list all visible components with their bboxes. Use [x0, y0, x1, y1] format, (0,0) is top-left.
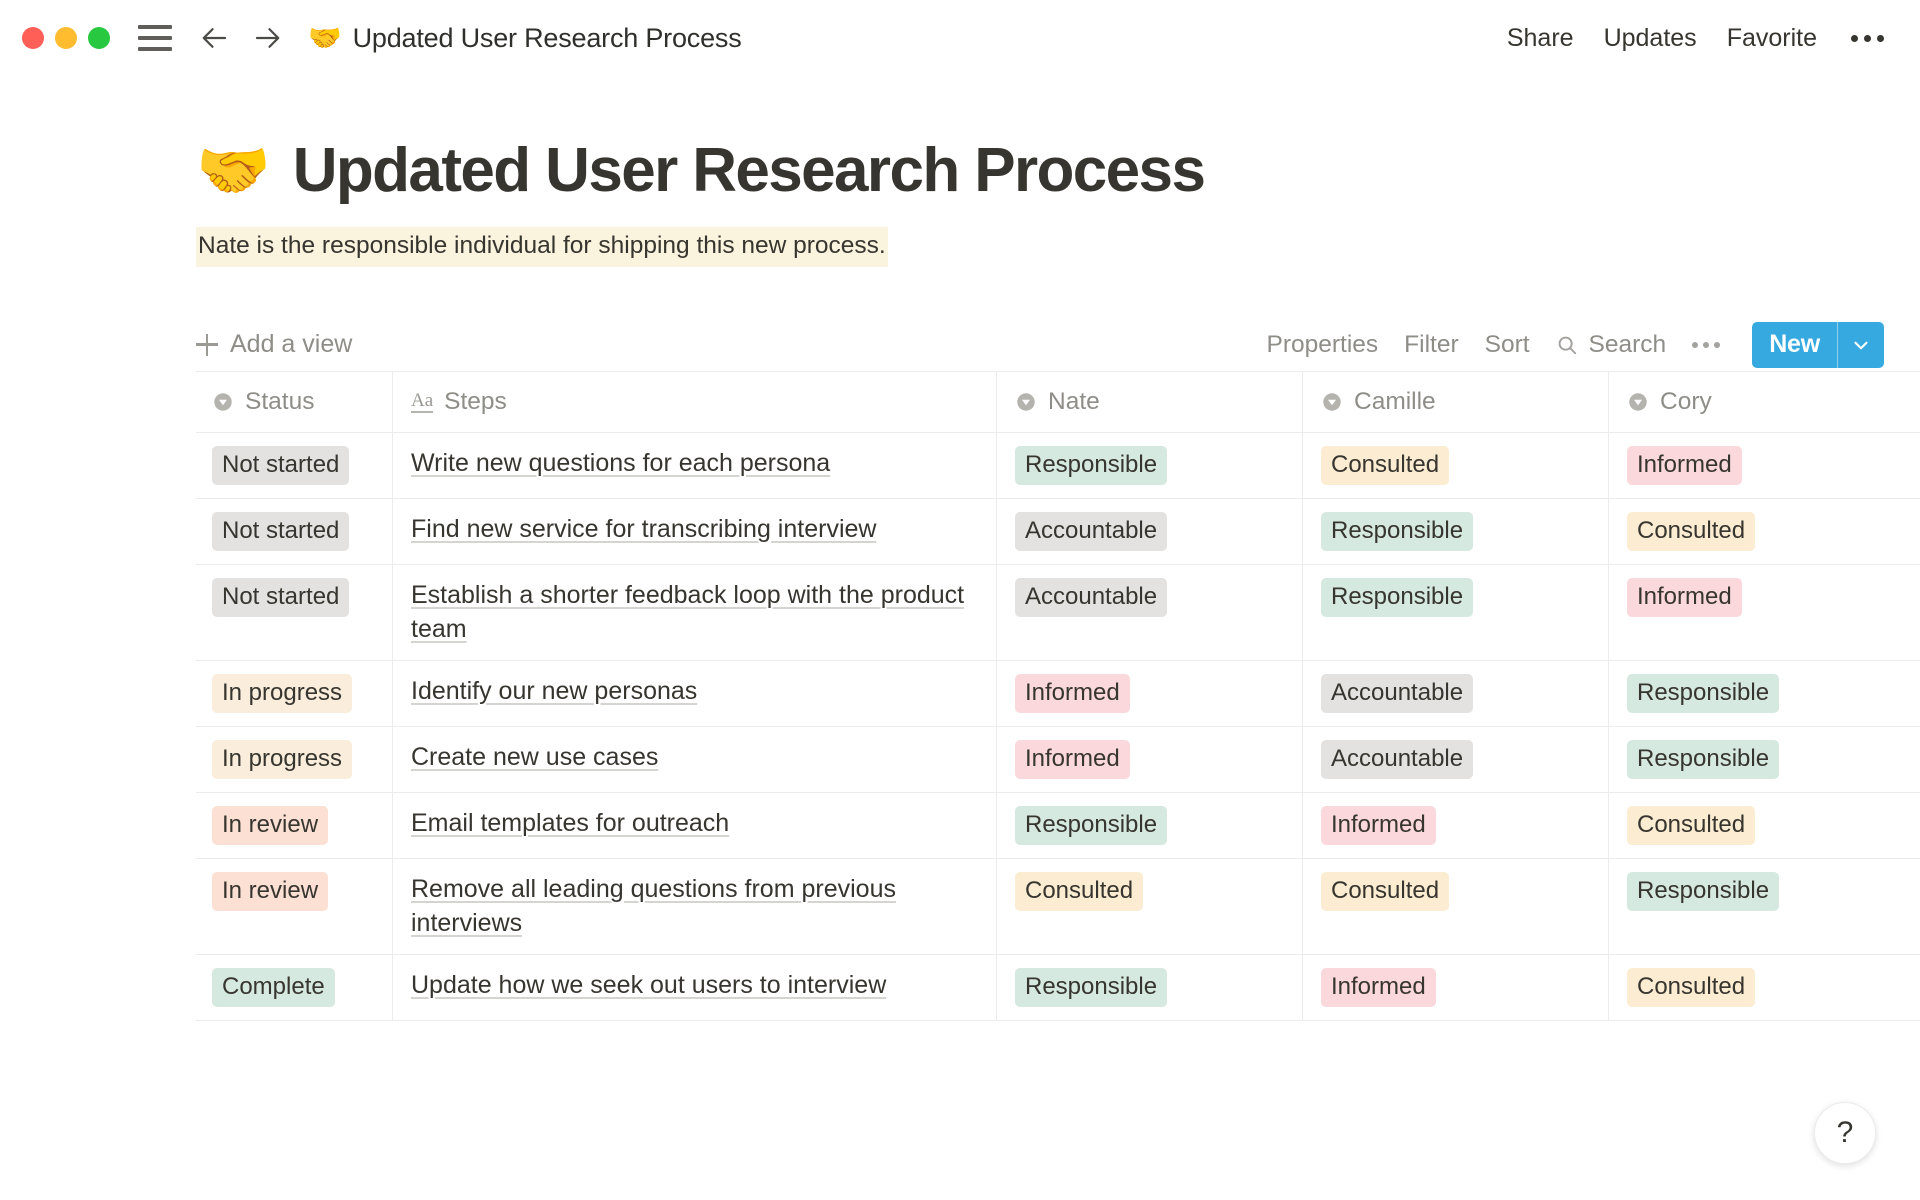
- arrow-left-icon[interactable]: [200, 23, 230, 53]
- search-button[interactable]: Search: [1556, 331, 1667, 359]
- cell-status[interactable]: Not started: [196, 499, 392, 564]
- table-row[interactable]: Not startedFind new service for transcri…: [196, 499, 1920, 565]
- column-header-label: Nate: [1048, 388, 1100, 416]
- breadcrumb[interactable]: Updated User Research Process: [353, 23, 742, 54]
- cell-camille[interactable]: Accountable: [1302, 727, 1608, 792]
- page-title[interactable]: Updated User Research Process: [293, 138, 1205, 205]
- cell-camille[interactable]: Accountable: [1302, 661, 1608, 726]
- cell-status[interactable]: Not started: [196, 565, 392, 660]
- filter-button[interactable]: Filter: [1404, 331, 1458, 359]
- page-content: 🤝 Updated User Research Process Nate is …: [0, 76, 1920, 1021]
- column-header-label: Status: [245, 388, 314, 416]
- nate-pill: Informed: [1015, 740, 1130, 779]
- cell-nate[interactable]: Responsible: [996, 955, 1302, 1020]
- column-header-cory[interactable]: Cory: [1608, 372, 1914, 432]
- cell-camille[interactable]: Responsible: [1302, 499, 1608, 564]
- navigation-arrows: [200, 23, 282, 53]
- cory-pill: Responsible: [1627, 674, 1779, 713]
- cell-cory[interactable]: Informed: [1608, 433, 1914, 498]
- cell-cory[interactable]: Informed: [1608, 565, 1914, 660]
- status-pill: In progress: [212, 740, 352, 779]
- column-header-steps[interactable]: Aa Steps: [392, 372, 996, 432]
- cell-steps[interactable]: Establish a shorter feedback loop with t…: [392, 565, 996, 660]
- select-property-icon: [1015, 391, 1037, 413]
- camille-pill: Informed: [1321, 968, 1436, 1007]
- step-title-link[interactable]: Email templates for outreach: [411, 806, 729, 840]
- cory-pill: Responsible: [1627, 740, 1779, 779]
- step-title-link[interactable]: Identify our new personas: [411, 674, 697, 708]
- status-pill: Complete: [212, 968, 335, 1007]
- step-title-link[interactable]: Write new questions for each persona: [411, 446, 830, 480]
- table-row[interactable]: CompleteUpdate how we seek out users to …: [196, 955, 1920, 1021]
- cell-camille[interactable]: Informed: [1302, 955, 1608, 1020]
- table-row[interactable]: In reviewRemove all leading questions fr…: [196, 859, 1920, 955]
- camille-pill: Responsible: [1321, 578, 1473, 617]
- camille-pill: Informed: [1321, 806, 1436, 845]
- titlebar-actions: Share Updates Favorite: [1507, 24, 1884, 53]
- cell-steps[interactable]: Update how we seek out users to intervie…: [392, 955, 996, 1020]
- page-title-row: 🤝 Updated User Research Process: [196, 138, 1920, 205]
- cell-steps[interactable]: Find new service for transcribing interv…: [392, 499, 996, 564]
- toolbar-actions: Properties Filter Sort Search New: [1266, 322, 1884, 368]
- breadcrumb-emoji-icon: 🤝: [308, 25, 342, 52]
- cell-cory[interactable]: Consulted: [1608, 955, 1914, 1020]
- camille-pill: Accountable: [1321, 674, 1473, 713]
- database-toolbar: Add a view Properties Filter Sort Search…: [196, 319, 1920, 371]
- cell-cory[interactable]: Responsible: [1608, 727, 1914, 792]
- select-property-icon: [212, 391, 234, 413]
- cory-pill: Consulted: [1627, 512, 1755, 551]
- table-row[interactable]: In progressIdentify our new personasInfo…: [196, 661, 1920, 727]
- step-title-link[interactable]: Find new service for transcribing interv…: [411, 512, 876, 546]
- column-header-label: Steps: [444, 388, 507, 416]
- search-label: Search: [1589, 331, 1667, 359]
- nate-pill: Responsible: [1015, 968, 1167, 1007]
- cell-camille[interactable]: Consulted: [1302, 859, 1608, 954]
- nate-pill: Informed: [1015, 674, 1130, 713]
- table-header-row: Status Aa Steps Nate: [196, 371, 1920, 433]
- cell-status[interactable]: In review: [196, 859, 392, 954]
- select-property-icon: [1321, 391, 1343, 413]
- cell-status[interactable]: Not started: [196, 433, 392, 498]
- cory-pill: Responsible: [1627, 872, 1779, 911]
- step-title-link[interactable]: Remove all leading questions from previo…: [411, 872, 978, 941]
- cory-pill: Consulted: [1627, 806, 1755, 845]
- hamburger-icon[interactable]: [138, 25, 172, 51]
- add-view-label: Add a view: [230, 330, 352, 359]
- column-header-nate[interactable]: Nate: [996, 372, 1302, 432]
- cell-nate[interactable]: Accountable: [996, 565, 1302, 660]
- status-pill: In review: [212, 872, 328, 911]
- column-header-status[interactable]: Status: [196, 372, 392, 432]
- camille-pill: Consulted: [1321, 446, 1449, 485]
- status-pill: In progress: [212, 674, 352, 713]
- new-button-dropdown[interactable]: [1838, 322, 1884, 368]
- column-header-camille[interactable]: Camille: [1302, 372, 1608, 432]
- nate-pill: Responsible: [1015, 446, 1167, 485]
- new-button-label: New: [1752, 322, 1837, 368]
- minimize-window-button[interactable]: [55, 27, 77, 49]
- window-traffic-lights: [22, 27, 110, 49]
- share-button[interactable]: Share: [1507, 24, 1574, 53]
- maximize-window-button[interactable]: [88, 27, 110, 49]
- properties-button[interactable]: Properties: [1266, 331, 1378, 359]
- arrow-right-icon[interactable]: [252, 23, 282, 53]
- table-row[interactable]: Not startedEstablish a shorter feedback …: [196, 565, 1920, 661]
- select-property-icon: [1627, 391, 1649, 413]
- nate-pill: Accountable: [1015, 512, 1167, 551]
- cell-steps[interactable]: Create new use cases: [392, 727, 996, 792]
- new-button[interactable]: New: [1752, 322, 1884, 368]
- sort-button[interactable]: Sort: [1485, 331, 1530, 359]
- cell-cory[interactable]: Consulted: [1608, 793, 1914, 858]
- cell-steps[interactable]: Write new questions for each persona: [392, 433, 996, 498]
- nate-pill: Responsible: [1015, 806, 1167, 845]
- column-header-label: Camille: [1354, 388, 1436, 416]
- page-header: 🤝 Updated User Research Process Nate is …: [196, 76, 1920, 267]
- table-row[interactable]: In reviewEmail templates for outreachRes…: [196, 793, 1920, 859]
- cell-nate[interactable]: Informed: [996, 727, 1302, 792]
- step-title-link[interactable]: Establish a shorter feedback loop with t…: [411, 578, 978, 647]
- cell-cory[interactable]: Responsible: [1608, 859, 1914, 954]
- cory-pill: Informed: [1627, 446, 1742, 485]
- search-icon: [1556, 334, 1578, 356]
- close-window-button[interactable]: [22, 27, 44, 49]
- favorite-button[interactable]: Favorite: [1727, 24, 1817, 53]
- status-pill: Not started: [212, 446, 349, 485]
- add-view-button[interactable]: Add a view: [196, 330, 352, 359]
- step-title-link[interactable]: Update how we seek out users to intervie…: [411, 968, 886, 1002]
- cell-cory[interactable]: Responsible: [1608, 661, 1914, 726]
- ellipsis-icon[interactable]: [1692, 342, 1720, 348]
- status-pill: Not started: [212, 512, 349, 551]
- cell-status[interactable]: In progress: [196, 727, 392, 792]
- status-pill: Not started: [212, 578, 349, 617]
- page-emoji-icon[interactable]: 🤝: [196, 141, 271, 201]
- cell-nate[interactable]: Responsible: [996, 793, 1302, 858]
- help-button[interactable]: ?: [1814, 1102, 1876, 1164]
- nate-pill: Consulted: [1015, 872, 1143, 911]
- cell-nate[interactable]: Informed: [996, 661, 1302, 726]
- database-table: Status Aa Steps Nate: [196, 371, 1920, 1021]
- cell-status[interactable]: In review: [196, 793, 392, 858]
- nate-pill: Accountable: [1015, 578, 1167, 617]
- cell-status[interactable]: In progress: [196, 661, 392, 726]
- cell-nate[interactable]: Consulted: [996, 859, 1302, 954]
- status-pill: In review: [212, 806, 328, 845]
- ellipsis-icon[interactable]: [1847, 35, 1884, 42]
- cell-status[interactable]: Complete: [196, 955, 392, 1020]
- cory-pill: Consulted: [1627, 968, 1755, 1007]
- step-title-link[interactable]: Create new use cases: [411, 740, 658, 774]
- chevron-down-icon: [1850, 334, 1872, 356]
- cell-camille[interactable]: Responsible: [1302, 565, 1608, 660]
- table-row[interactable]: Not startedWrite new questions for each …: [196, 433, 1920, 499]
- cell-camille[interactable]: Informed: [1302, 793, 1608, 858]
- column-header-label: Cory: [1660, 388, 1712, 416]
- cell-steps[interactable]: Remove all leading questions from previo…: [392, 859, 996, 954]
- table-row[interactable]: In progressCreate new use casesInformedA…: [196, 727, 1920, 793]
- text-property-icon: Aa: [411, 391, 433, 413]
- cell-cory[interactable]: Consulted: [1608, 499, 1914, 564]
- updates-button[interactable]: Updates: [1604, 24, 1697, 53]
- cell-camille[interactable]: Consulted: [1302, 433, 1608, 498]
- page-subtitle: Nate is the responsible individual for s…: [196, 227, 888, 267]
- question-mark-icon: ?: [1837, 1116, 1854, 1150]
- plus-icon: [196, 334, 218, 356]
- cell-steps[interactable]: Identify our new personas: [392, 661, 996, 726]
- table-body: Not startedWrite new questions for each …: [196, 433, 1920, 1021]
- camille-pill: Responsible: [1321, 512, 1473, 551]
- cell-nate[interactable]: Accountable: [996, 499, 1302, 564]
- cory-pill: Informed: [1627, 578, 1742, 617]
- window-titlebar: 🤝 Updated User Research Process Share Up…: [0, 0, 1920, 76]
- camille-pill: Consulted: [1321, 872, 1449, 911]
- cell-nate[interactable]: Responsible: [996, 433, 1302, 498]
- camille-pill: Accountable: [1321, 740, 1473, 779]
- cell-steps[interactable]: Email templates for outreach: [392, 793, 996, 858]
